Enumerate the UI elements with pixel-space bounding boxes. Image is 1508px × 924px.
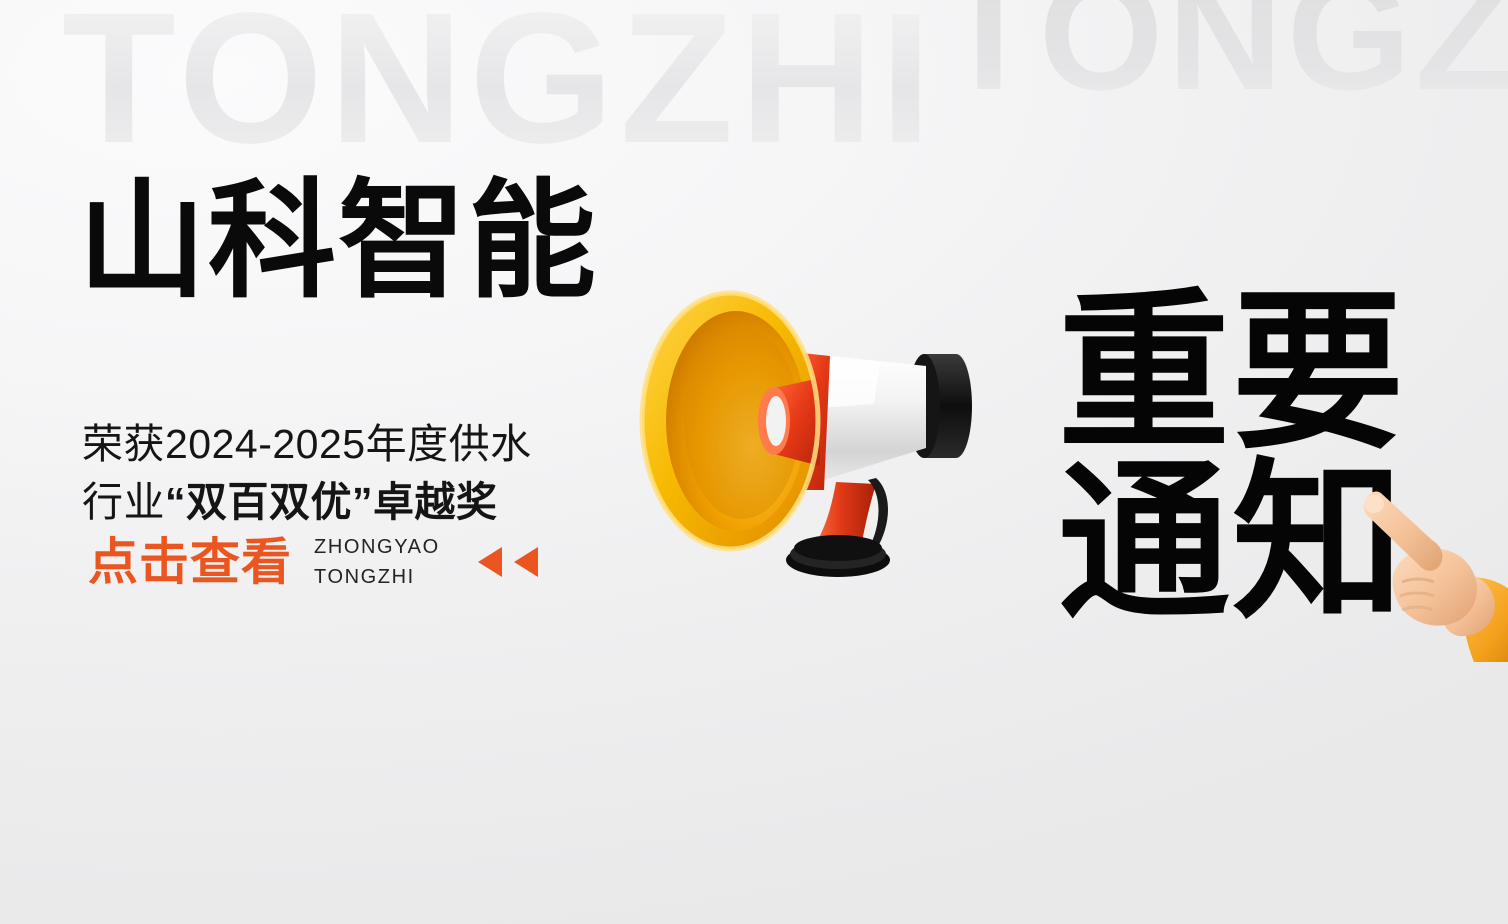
notice-banner: TONGZHI TONGZHI 山科智能 荣获2024-2025年度供水 行业“… [0, 0, 1508, 924]
award-subtitle: 荣获2024-2025年度供水 行业“双百双优”卓越奖 [82, 415, 602, 531]
award-subtitle-suffix: 卓越奖 [373, 479, 498, 525]
background-watermark-primary: TONGZHI [62, 0, 938, 172]
triangle-left-icon-2[interactable] [514, 547, 538, 577]
pointing-hand-icon [1346, 482, 1508, 662]
cta-arrow-group[interactable] [478, 547, 538, 577]
award-subtitle-prefix: 行业 [82, 479, 165, 525]
left-content-column: 山科智能 荣获2024-2025年度供水 行业“双百双优”卓越奖 点击查看 ZH… [78, 172, 718, 531]
notice-headline-line-1: 重要 [1058, 288, 1406, 458]
award-subtitle-emphasis: “双百双优” [165, 479, 373, 525]
award-subtitle-line-1: 荣获2024-2025年度供水 [82, 415, 602, 473]
megaphone-icon [624, 278, 996, 590]
background-watermark-secondary: TONGZHI [940, 0, 1508, 114]
cta-label[interactable]: 点击查看 [88, 537, 292, 587]
cta-row[interactable]: 点击查看 ZHONGYAO TONGZHI [88, 532, 538, 592]
cta-pinyin-label: ZHONGYAO TONGZHI [314, 532, 440, 592]
triangle-left-icon-1[interactable] [478, 547, 502, 577]
brand-title: 山科智能 [78, 172, 718, 313]
award-subtitle-line-2: 行业“双百双优”卓越奖 [82, 473, 602, 531]
